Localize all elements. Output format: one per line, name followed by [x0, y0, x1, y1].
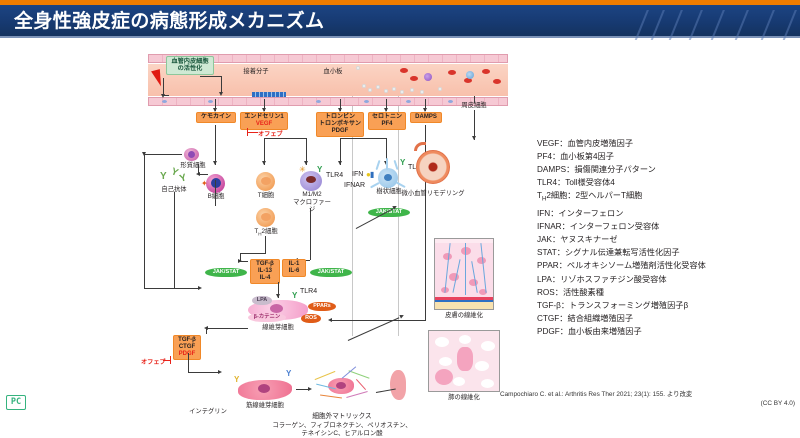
- legend-jp: インターフェロン: [558, 209, 623, 218]
- ifn-ligand-icon: ●: [366, 171, 371, 179]
- mediator-line: トロンボキサン: [319, 121, 361, 128]
- connector: [240, 261, 248, 262]
- alveolar-space: [481, 341, 495, 351]
- inhibit-cap: [247, 128, 248, 136]
- legend-jp: トランスフォーミング増殖因子β: [569, 301, 688, 310]
- endothelial-nucleus: [316, 100, 321, 103]
- adhesion-molecule-label: 接着分子: [236, 68, 276, 76]
- dendrite-spike: [386, 158, 388, 170]
- alveolar-space: [435, 337, 449, 347]
- arrowhead: [328, 318, 332, 322]
- ros-marker: ROS: [301, 314, 321, 323]
- legend-row: PDGF：血小板由来増殖因子: [537, 325, 795, 338]
- mediator-box-damps[interactable]: DAMPS: [410, 112, 442, 123]
- legend-row: ROS：活性酸素種: [537, 286, 795, 299]
- autoantibody-icon: Y: [169, 167, 179, 179]
- platelet: [400, 90, 404, 94]
- mediator-line: DAMPS: [413, 114, 439, 121]
- inhibit-cap: [170, 356, 171, 364]
- platelet: [420, 90, 424, 94]
- platelet-label: 血小板: [318, 68, 348, 76]
- legend-jp: 損傷関連分子パターン: [574, 165, 655, 174]
- platelet: [438, 87, 442, 91]
- arrowhead: [276, 294, 280, 298]
- connector: [310, 208, 311, 260]
- microvascular-remodeling-label: 微小血管リモデリング: [396, 190, 470, 198]
- platelet: [376, 85, 380, 89]
- ecm-title: 細胞外マトリックス: [300, 413, 384, 421]
- ecm-components-line2: テネイシンC、ヒアルロン酸: [272, 430, 412, 438]
- mediator-line: セロトニン: [371, 114, 403, 121]
- macrophage-nucleus: [306, 176, 316, 183]
- endothelial-nucleus: [364, 100, 369, 103]
- lung-fibrosis-histology: [428, 330, 500, 392]
- legend-abbr: TH2細胞: [537, 191, 567, 200]
- legend-row: PF4：血小板第4因子: [537, 150, 795, 163]
- pill-jak-stat-right[interactable]: JAK/STAT: [310, 268, 352, 277]
- adhesion-molecule-band: [252, 92, 286, 97]
- legend-abbr: VEGF: [537, 139, 559, 148]
- pill-jak-stat-left[interactable]: JAK/STAT: [205, 268, 247, 277]
- legend-row: VEGF：血管内皮増殖因子: [537, 137, 795, 150]
- alveolar-space: [453, 377, 465, 386]
- connector: [264, 138, 306, 139]
- tlr4-label-fibroblast: TLR4: [300, 288, 317, 297]
- platelet: [362, 84, 366, 88]
- drug-label-ofev-bottom: オフェブ: [141, 357, 166, 366]
- legend-row: TH2細胞：2型ヘルパーT細胞: [537, 189, 795, 207]
- tlr4-receptor-icon: Y: [317, 166, 322, 174]
- dendritic-nucleus: [384, 174, 392, 181]
- fibrotic-nodule: [457, 347, 473, 371]
- pill-label: JAK/STAT: [318, 269, 345, 275]
- tlr4-receptor-icon-fibroblast: Y: [292, 292, 297, 300]
- red-blood-cell: [482, 69, 490, 74]
- legend-jp: 血小板由来増殖因子: [568, 327, 642, 336]
- endothelial-nucleus: [406, 100, 411, 103]
- th2-cell-nucleus: [261, 213, 271, 221]
- alveolar-space: [439, 357, 452, 366]
- arrowhead: [262, 108, 266, 112]
- legend-abbr: JAK: [537, 235, 552, 244]
- vessel-wall-bottom: [148, 97, 508, 106]
- cytokine-line: IL-6: [285, 268, 303, 275]
- legend-jp: 活性酸素種: [563, 288, 604, 297]
- alveolar-space: [459, 335, 471, 344]
- legend-row: IFN：インターフェロン: [537, 207, 795, 220]
- connector: [144, 288, 200, 289]
- legend-row: JAK：ヤヌスキナーゼ: [537, 233, 795, 246]
- inhibit-line: [247, 132, 258, 133]
- legend-jp: リゾホスファチジン酸受容体: [560, 275, 666, 284]
- vessel-strand: [465, 243, 466, 295]
- cytokine-box-tgfb[interactable]: TGF-β IL-13 IL-4: [250, 259, 280, 284]
- platelet: [368, 88, 372, 92]
- mediator-line: PDGF: [319, 128, 361, 135]
- autoantibody-icon: Y: [179, 173, 188, 184]
- citation-line-2: (CC BY 4.0): [500, 399, 795, 408]
- ppars-label: PPARs: [313, 303, 331, 309]
- arrowhead: [218, 370, 222, 374]
- arrowhead: [472, 136, 476, 140]
- legend-row: DAMPS：損傷関連分子パターン: [537, 163, 795, 176]
- mediator-line-vegf: VEGF: [243, 121, 285, 128]
- citation-line-1: Campochiaro C. et al.: Arthritis Res The…: [500, 390, 795, 399]
- t-cell-label: T細胞: [254, 192, 278, 200]
- t-cell-nucleus: [261, 177, 271, 185]
- legend-abbr: PPAR: [537, 261, 559, 270]
- legend-row: TLR4：Toll様受容体4: [537, 176, 795, 189]
- ifn-label: IFN: [352, 171, 363, 180]
- alveolar-space: [475, 361, 489, 371]
- b-cell-nucleus: [211, 178, 221, 188]
- macrophage-label: M1/M2 マクロファージ: [291, 191, 333, 214]
- endothelial-nucleus: [208, 100, 213, 103]
- legend-abbr: CTGF: [537, 314, 559, 323]
- beta-catenin: β-カテニン: [248, 313, 286, 322]
- mediator-box-thrombin[interactable]: トロンビン トロンボキサン PDGF: [316, 112, 364, 137]
- citation: Campochiaro C. et al.: Arthritis Res The…: [500, 390, 795, 408]
- white-blood-cell: [466, 71, 474, 79]
- legend-abbr: STAT: [537, 248, 557, 257]
- pill-label: JAK/STAT: [213, 269, 240, 275]
- legend-row: PPAR：ペルオキシソーム増殖剤活性化受容体: [537, 259, 795, 272]
- vessel-strand: [480, 243, 486, 293]
- arrowhead: [338, 108, 342, 112]
- connector: [200, 76, 222, 77]
- endothelial-activation-label: 血管内皮細胞 の活性化: [166, 56, 214, 75]
- legend-jp: 2型ヘルパーT細胞: [576, 191, 643, 200]
- integrin-label: インテグリン: [186, 408, 230, 416]
- ros-label: ROS: [305, 315, 317, 321]
- connector: [198, 164, 199, 175]
- connector: [330, 320, 426, 321]
- arrowhead: [384, 108, 388, 112]
- vessel-strand: [444, 243, 450, 293]
- lung-silhouette: [390, 370, 406, 400]
- arrowhead: [423, 108, 427, 112]
- skin-fibrosis-histology: [434, 238, 494, 310]
- legend-abbr: PDGF: [537, 327, 560, 336]
- endothelial-activation-text: 血管内皮細胞 の活性化: [171, 58, 208, 72]
- legend-jp: 結合組織増殖因子: [568, 314, 634, 323]
- legend-jp: 血管内皮増殖因子: [568, 139, 634, 148]
- legend-jp: インターフェロン受容体: [570, 222, 660, 231]
- cytokine-box-il1-il6[interactable]: IL-1 IL-6: [282, 259, 306, 277]
- cytokine-line: IL-1: [285, 261, 303, 268]
- legend-jp: ヤヌスキナーゼ: [560, 235, 617, 244]
- myofibroblast-label: 筋線維芽細胞: [238, 402, 292, 410]
- legend-jp: 血小板第4因子: [560, 152, 614, 161]
- ifnar-label: IFNAR: [344, 182, 365, 191]
- mediator-line: ケモカイン: [199, 114, 233, 121]
- fibroblast-label: 線維芽細胞: [254, 324, 302, 332]
- mediator-box-chemokine[interactable]: ケモカイン: [196, 112, 236, 123]
- arrowhead: [338, 161, 342, 165]
- fibrotic-dot: [461, 247, 471, 255]
- legend-abbr: TLR4: [537, 178, 557, 187]
- legend-row: TGF-β：トランスフォーミング増殖因子β: [537, 299, 795, 312]
- mediator-line: エンドセリン1: [243, 114, 285, 121]
- arrowhead: [213, 161, 217, 165]
- arrowhead: [399, 313, 404, 318]
- arrowhead: [219, 92, 223, 96]
- b-cell-label: B細胞: [205, 193, 227, 201]
- legend-abbr: TGF-β: [537, 301, 561, 310]
- myofibroblast-nucleus: [258, 384, 270, 393]
- legend-abbr: ROS: [537, 288, 555, 297]
- legend-abbr: IFNAR: [537, 222, 562, 231]
- tlr4-receptor-icon-dc: Y: [400, 159, 405, 167]
- connector: [265, 236, 266, 254]
- connector: [215, 125, 216, 165]
- remodeled-vessel-icon: [416, 150, 450, 184]
- header-decoration: [630, 10, 800, 43]
- page-title: 全身性強皮症の病態形成メカニズム: [14, 9, 534, 35]
- alveolar-space: [481, 379, 494, 388]
- cytokine-line: TGF-β: [253, 261, 277, 268]
- arrowhead: [262, 161, 266, 165]
- connector: [188, 353, 189, 373]
- connector: [174, 192, 175, 288]
- arrowhead: [142, 152, 146, 156]
- mediator-line: PF4: [371, 121, 403, 128]
- red-blood-cell: [448, 70, 456, 75]
- ecm-components-line1: コラーゲン、フィブロネクチン、ペリオスチン、: [272, 422, 412, 430]
- fibrotic-nodule: [435, 369, 453, 385]
- integrin-receptor-icon: Y: [234, 376, 239, 384]
- arrowhead: [308, 387, 312, 391]
- lung-fibrosis-label: 肺の線維化: [428, 394, 500, 402]
- legend-abbr: LPA: [537, 275, 552, 284]
- legend-abbr: IFN: [537, 209, 550, 218]
- tlr4-label-macrophage: TLR4: [326, 172, 343, 181]
- integrin-receptor-icon: Y: [286, 370, 291, 378]
- arrowhead: [204, 326, 208, 330]
- ppars-receptor: PPARs: [308, 302, 336, 311]
- fibrotic-dot: [469, 279, 478, 286]
- platelet: [410, 88, 414, 92]
- lpa-receptor: LPA: [252, 296, 272, 305]
- plasma-cell-label: 形質細胞: [176, 162, 210, 170]
- pericyte-label: 周皮細胞: [455, 102, 493, 110]
- cytokine-line-pdgf: PDGF: [176, 351, 198, 358]
- arrowhead: [213, 108, 217, 112]
- drug-label-ofev-top: オフェブ: [258, 129, 283, 138]
- dendrite-spike: [375, 160, 380, 170]
- platelet: [384, 89, 388, 93]
- legend-abbr: DAMPS: [537, 165, 566, 174]
- arrowhead: [161, 94, 165, 98]
- arrowhead: [198, 286, 202, 290]
- cytokine-line: CTGF: [176, 344, 198, 351]
- endothelial-nucleus: [448, 100, 453, 103]
- connector: [188, 372, 220, 373]
- connector: [240, 253, 265, 254]
- connector: [474, 96, 475, 103]
- connector: [215, 180, 216, 206]
- connector: [206, 328, 248, 329]
- legend-abbr: PF4: [537, 152, 552, 161]
- extracellular-matrix-cell: [314, 372, 368, 402]
- mediator-box-serotonin[interactable]: セロトニン PF4: [368, 112, 406, 130]
- white-blood-cell: [424, 73, 432, 81]
- legend-jp: Toll様受容体4: [565, 178, 615, 187]
- th2-cell-label: TH2細胞: [250, 228, 282, 237]
- bcr-receptor-icon: ✦: [201, 180, 208, 188]
- cytokine-box-tgfb-ctgf-pdgf[interactable]: TGF-β CTGF PDGF: [173, 335, 201, 360]
- abbreviation-legend: VEGF：血管内皮増殖因子 PF4：血小板第4因子 DAMPS：損傷関連分子パタ…: [537, 137, 795, 338]
- fibroblast-nucleus: [270, 304, 283, 313]
- connector: [425, 180, 426, 320]
- cytokine-line: IL-13: [253, 268, 277, 275]
- vessel-strand: [471, 261, 478, 293]
- connector: [144, 154, 182, 155]
- connector: [340, 138, 386, 139]
- plasma-cell-nucleus: [188, 151, 195, 158]
- platelet: [392, 87, 396, 91]
- pc-logo: PC: [6, 395, 26, 410]
- platelet: [356, 66, 360, 70]
- star-receptor-icon: ✳: [299, 166, 306, 174]
- beta-catenin-label: β-カテニン: [254, 314, 281, 320]
- legend-row: CTGF：結合組織増殖因子: [537, 312, 795, 325]
- cytokine-line: IL-4: [253, 275, 277, 282]
- red-blood-cell: [493, 79, 501, 84]
- lpa-label: LPA: [257, 297, 267, 303]
- connector: [144, 154, 145, 288]
- autoantibody-icon: Y: [160, 172, 167, 182]
- endothelial-nucleus: [162, 100, 167, 103]
- legend-row: LPA：リゾホスファチジン酸受容体: [537, 273, 795, 286]
- cytokine-line: TGF-β: [176, 337, 198, 344]
- skin-fibrosis-label: 皮膚の線維化: [434, 312, 494, 320]
- red-blood-cell: [400, 68, 408, 73]
- legend-jp: ペルオキシソーム増殖剤活性化受容体: [567, 261, 706, 270]
- legend-row: STAT：シグナル伝達兼転写活性化因子: [537, 246, 795, 259]
- vessel-tail-icon: [414, 142, 426, 151]
- red-blood-cell: [410, 76, 418, 81]
- legend-row: IFNAR：インターフェロン受容体: [537, 220, 795, 233]
- legend-jp: シグナル伝達兼転写活性化因子: [565, 248, 680, 257]
